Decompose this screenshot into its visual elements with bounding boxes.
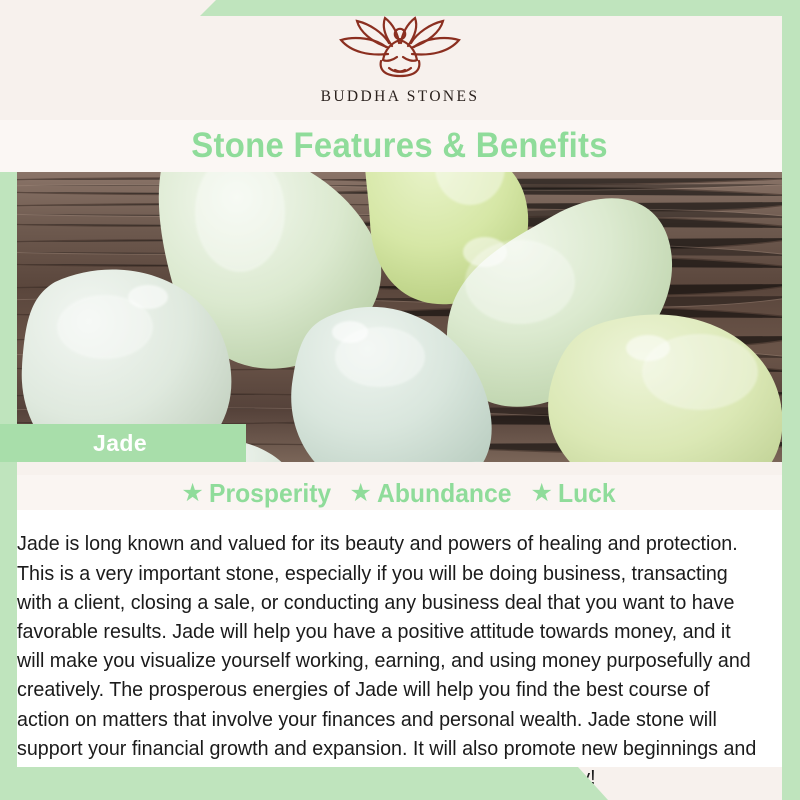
header: BUDDHA STONES	[0, 0, 800, 120]
lotus-meditation-icon	[325, 16, 475, 86]
page-title-band: Stone Features & Benefits	[0, 120, 800, 172]
benefit-label: Prosperity	[209, 478, 331, 509]
description-area: Jade is long known and valued for its be…	[0, 510, 800, 767]
jade-stones-icon	[0, 172, 800, 462]
star-icon: ★	[349, 481, 371, 506]
star-icon: ★	[181, 481, 203, 506]
stone-name-tab: Jade	[0, 424, 246, 462]
frame-right-accent	[782, 0, 800, 800]
brand-logo: BUDDHA STONES	[0, 16, 800, 106]
star-icon: ★	[530, 481, 552, 506]
description-text: Jade is long known and valued for its be…	[17, 530, 760, 793]
stone-name: Jade	[93, 430, 147, 457]
benefit-item: ★ Abundance	[349, 478, 518, 509]
benefit-item: ★ Luck	[530, 478, 618, 509]
benefit-label: Luck	[558, 478, 616, 509]
stone-info-poster: BUDDHA STONES Stone Features & Benefits	[0, 0, 800, 800]
benefit-label: Abundance	[377, 478, 511, 509]
frame-left-accent	[0, 172, 17, 800]
benefit-item: ★ Prosperity	[181, 478, 337, 509]
page-title: Stone Features & Benefits	[192, 126, 609, 166]
benefits-row: ★ Prosperity ★ Abundance ★ Luck	[0, 475, 800, 511]
stone-photo	[0, 172, 800, 462]
brand-name: BUDDHA STONES	[321, 88, 480, 106]
